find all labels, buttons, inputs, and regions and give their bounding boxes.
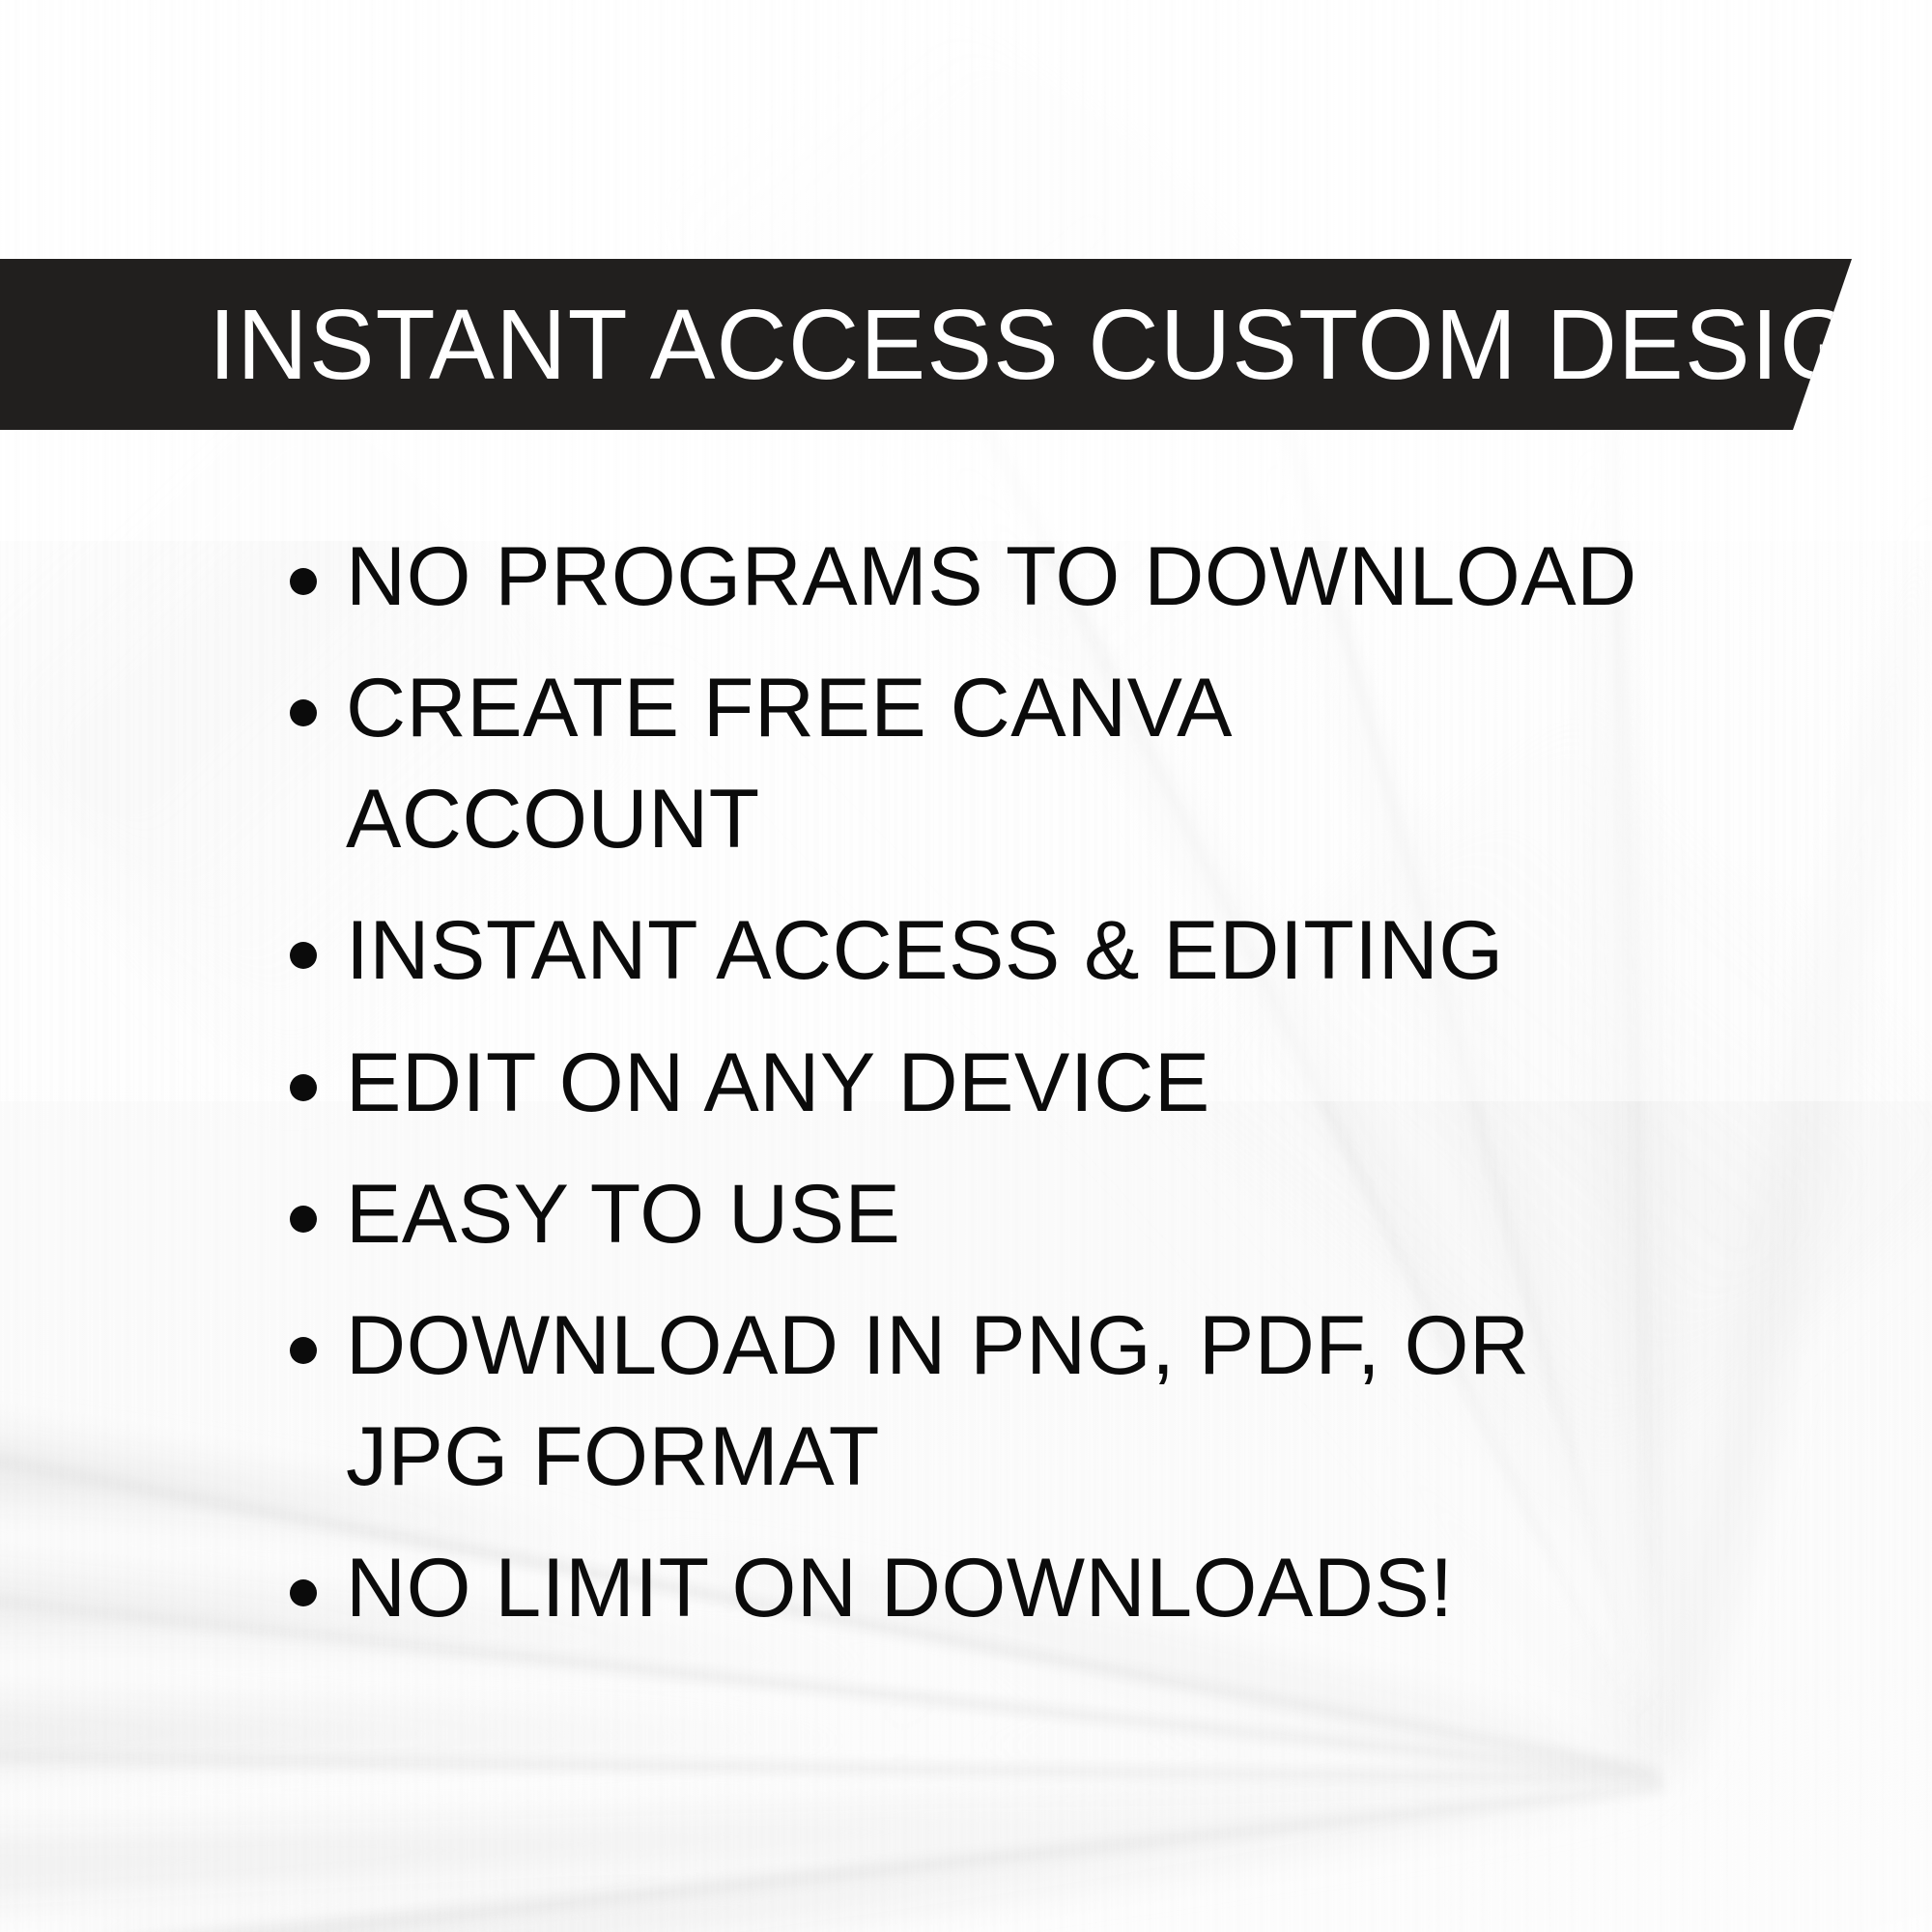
list-item-label: INSTANT ACCESS & EDITING: [346, 904, 1504, 997]
bullet-dot-icon: [290, 1579, 317, 1606]
feature-list: NO PROGRAMS TO DOWNLOAD CREATE FREE CANV…: [276, 522, 1648, 1643]
list-item: NO PROGRAMS TO DOWNLOAD: [276, 522, 1648, 632]
list-item: INSTANT ACCESS & EDITING: [276, 895, 1648, 1006]
list-item: NO LIMIT ON DOWNLOADS!: [276, 1533, 1648, 1643]
bullet-dot-icon: [290, 942, 317, 969]
list-item-label: EDIT ON ANY DEVICE: [346, 1037, 1210, 1129]
header-banner: INSTANT ACCESS CUSTOM DESIGNS: [0, 259, 1855, 430]
bullet-dot-icon: [290, 1206, 317, 1233]
product-listing-graphic: INSTANT ACCESS CUSTOM DESIGNS NO PROGRAM…: [0, 0, 1932, 1932]
list-item-label: NO PROGRAMS TO DOWNLOAD: [346, 530, 1637, 623]
list-item: EDIT ON ANY DEVICE: [276, 1028, 1648, 1138]
bullet-dot-icon: [290, 1074, 317, 1101]
list-item-label: NO LIMIT ON DOWNLOADS!: [346, 1542, 1454, 1634]
list-item-label: DOWNLOAD IN PNG, PDF, OR JPG FORMAT: [346, 1299, 1530, 1502]
bullet-dot-icon: [290, 568, 317, 595]
bullet-dot-icon: [290, 1337, 317, 1364]
page-title: INSTANT ACCESS CUSTOM DESIGNS: [209, 295, 1932, 394]
list-item-label: CREATE FREE CANVA ACCOUNT: [346, 662, 1228, 865]
list-item: EASY TO USE: [276, 1159, 1648, 1269]
bullet-dot-icon: [290, 699, 317, 726]
list-item: DOWNLOAD IN PNG, PDF, OR JPG FORMAT: [276, 1291, 1648, 1512]
list-item-label: EASY TO USE: [346, 1168, 900, 1261]
list-item: CREATE FREE CANVA ACCOUNT: [276, 653, 1648, 874]
